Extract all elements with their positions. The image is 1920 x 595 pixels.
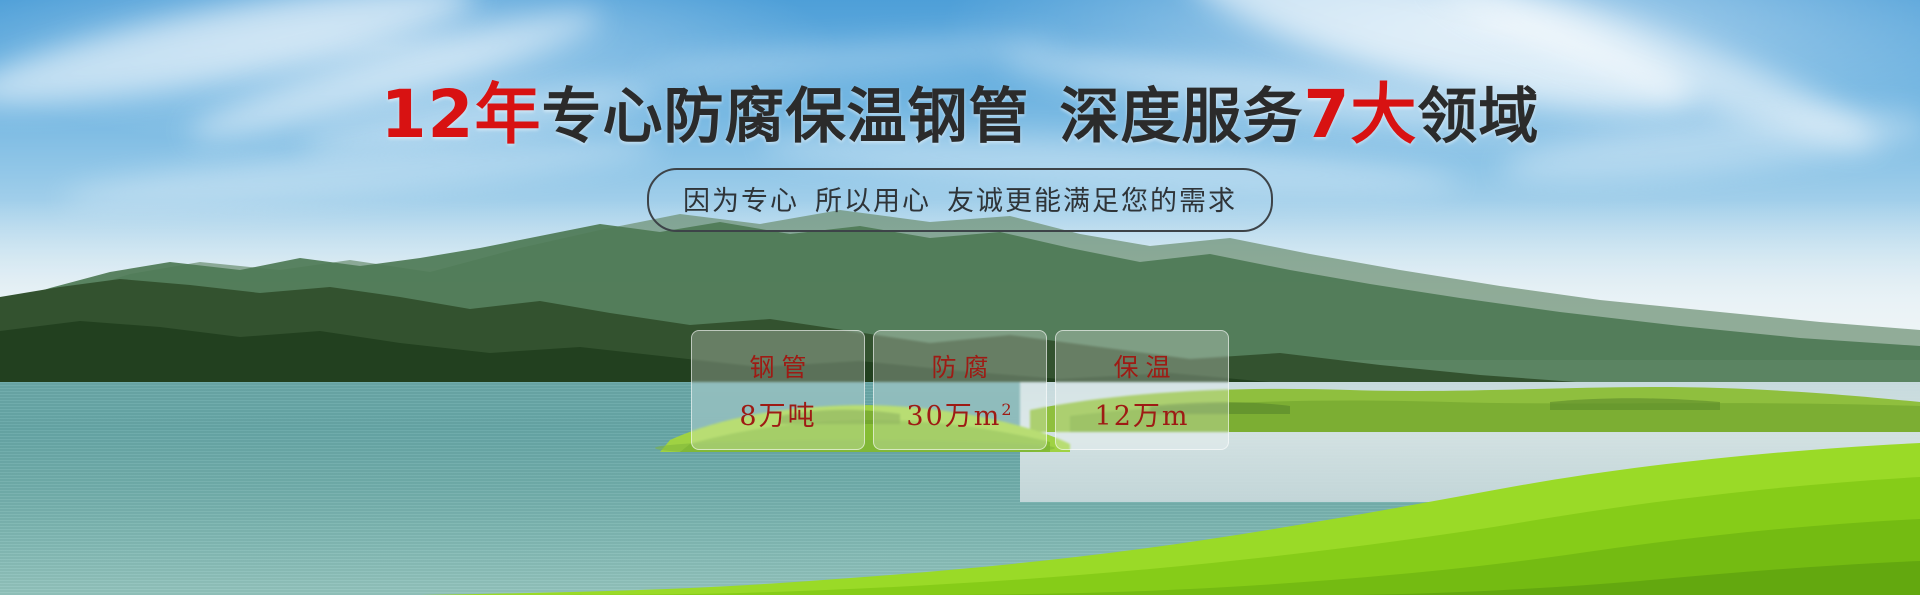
page-title: 12年专心防腐保温钢管深度服务7大领域 — [0, 82, 1920, 148]
headline-lead-number: 12 — [381, 76, 475, 153]
subtitle-part-2: 所以用心 — [815, 186, 931, 217]
headline-highlight-number: 7 — [1303, 76, 1350, 153]
stat-card-title: 钢管 — [742, 348, 813, 384]
stat-card-steel-pipe[interactable]: 钢管 8万吨 — [691, 330, 865, 450]
stat-card-title: 防腐 — [924, 348, 995, 384]
headline-lead-unit: 年 — [474, 76, 541, 153]
stat-card-unit-exponent: 2 — [1001, 400, 1013, 419]
stat-card-value: 30万m2 — [906, 394, 1013, 433]
stat-card-value: 8万吨 — [739, 394, 816, 433]
stat-card-insulation[interactable]: 保温 12万m — [1055, 330, 1229, 450]
subtitle-part-1: 因为专心 — [683, 186, 799, 217]
headline-main-text: 专心防腐保温钢管 — [541, 82, 1029, 152]
headline-service-text: 深度服务 — [1059, 82, 1303, 152]
stat-card-group: 钢管 8万吨 防腐 30万m2 保温 12万m — [691, 330, 1229, 450]
stat-card-value: 12万m — [1095, 394, 1190, 433]
stat-card-anticorrosion[interactable]: 防腐 30万m2 — [873, 330, 1047, 450]
hero-banner: 12年专心防腐保温钢管深度服务7大领域 因为专心所以用心友诚更能满足您的需求 钢… — [0, 0, 1920, 595]
subtitle-part-3: 友诚更能满足您的需求 — [947, 186, 1237, 217]
headline-tail-text: 领域 — [1417, 82, 1539, 152]
subtitle-pill: 因为专心所以用心友诚更能满足您的需求 — [647, 168, 1273, 232]
headline-highlight-unit: 大 — [1350, 76, 1417, 153]
stat-card-title: 保温 — [1106, 348, 1177, 384]
